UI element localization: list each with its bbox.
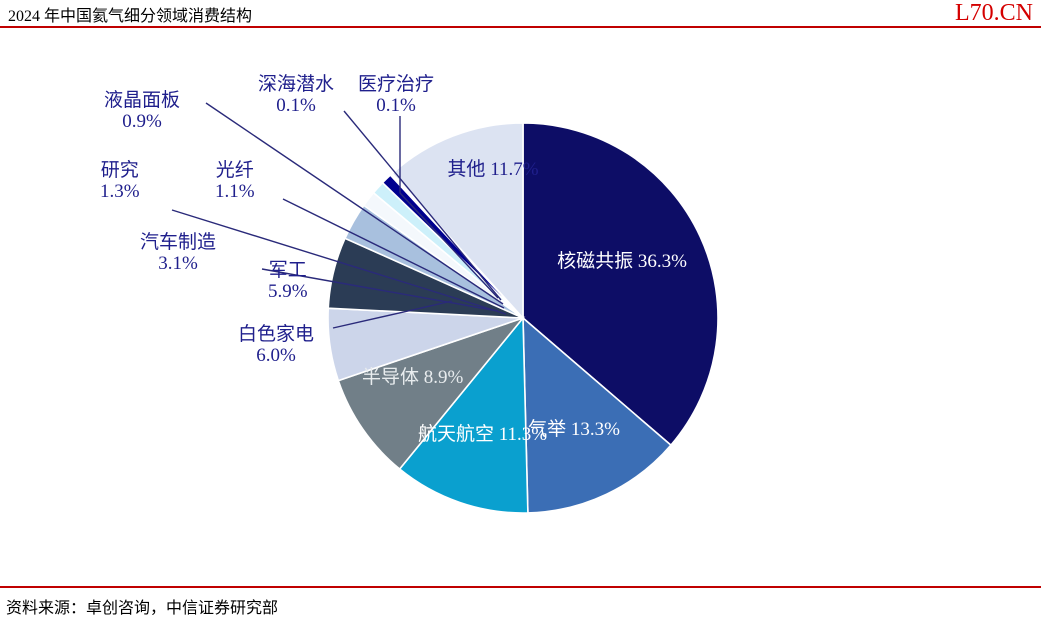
callout-medical-treatment: 医疗治疗 0.1%	[358, 74, 434, 117]
callout-defense: 军工 5.9%	[268, 260, 308, 303]
callout-research-value: 1.3%	[100, 181, 140, 202]
inlabel-aerospace: 航天航空 11.3%	[418, 424, 534, 446]
callout-research-label: 研究	[100, 160, 140, 181]
inlabel-mri: 核磁共振 36.3%	[557, 251, 687, 273]
callout-medical-treatment-value: 0.1%	[358, 95, 434, 116]
inlabel-mri-value: 36.3%	[638, 251, 687, 272]
callout-optical-fiber-value: 1.1%	[215, 181, 255, 202]
callout-optical-fiber: 光纤 1.1%	[215, 160, 255, 203]
inlabel-semiconductor-value: 8.9%	[424, 367, 464, 388]
chart-page: 2024 年中国氦气细分领域消费结构 L70.CN	[0, 0, 1041, 624]
callout-defense-label: 军工	[268, 260, 308, 281]
callout-lcd-panel: 液晶面板 0.9%	[104, 90, 180, 133]
inlabel-mri-label: 核磁共振	[557, 251, 633, 272]
inlabel-other: 其他 11.7%	[438, 159, 548, 181]
callout-automotive-label: 汽车制造	[140, 232, 216, 253]
callout-deep-sea-diving: 深海潜水 0.1%	[258, 74, 334, 117]
footer-divider	[0, 586, 1041, 588]
callout-research: 研究 1.3%	[100, 160, 140, 203]
callout-automotive-value: 3.1%	[140, 253, 216, 274]
inlabel-other-label: 其他	[447, 159, 485, 180]
callout-white-goods-value: 6.0%	[238, 345, 314, 366]
inlabel-gas-lift-value: 13.3%	[571, 419, 620, 440]
inlabel-aerospace-value: 11.3%	[499, 424, 547, 445]
site-logo: L70.CN	[955, 0, 1033, 27]
callout-deep-sea-diving-label: 深海潜水	[258, 74, 334, 95]
pie-slice-group	[328, 123, 718, 513]
callout-white-goods: 白色家电 6.0%	[238, 324, 314, 367]
inlabel-aerospace-label: 航天航空	[418, 424, 494, 445]
callout-optical-fiber-label: 光纤	[215, 160, 255, 181]
callout-lcd-panel-value: 0.9%	[104, 111, 180, 132]
callout-automotive: 汽车制造 3.1%	[140, 232, 216, 275]
callout-lcd-panel-label: 液晶面板	[104, 90, 180, 111]
inlabel-semiconductor: 半导体 8.9%	[362, 367, 458, 389]
page-header: 2024 年中国氦气细分领域消费结构 L70.CN	[0, 0, 1041, 26]
callout-white-goods-label: 白色家电	[238, 324, 314, 345]
inlabel-other-value: 11.7%	[490, 159, 538, 180]
callout-defense-value: 5.9%	[268, 281, 308, 302]
inlabel-semiconductor-label: 半导体	[362, 367, 419, 388]
callout-medical-treatment-label: 医疗治疗	[358, 74, 434, 95]
callout-deep-sea-diving-value: 0.1%	[258, 95, 334, 116]
pie-chart: 液晶面板 0.9% 深海潜水 0.1% 医疗治疗 0.1% 研究 1.3% 光纤…	[0, 28, 1041, 584]
source-note: 资料来源：卓创咨询，中信证券研究部	[6, 594, 278, 618]
page-title: 2024 年中国氦气细分领域消费结构	[8, 2, 252, 26]
